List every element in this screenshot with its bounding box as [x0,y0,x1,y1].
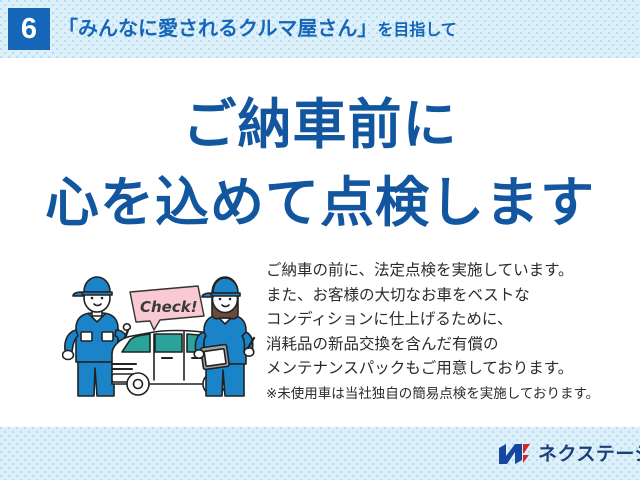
body-paragraph: ご納車の前に、法定点検を実施しています。 また、お客様の大切なお車をベストな コ… [266,258,616,406]
headline-line-2: 心を込めて点検します [0,170,640,236]
mechanics-illustration: Check! [62,272,262,400]
body-line-2: また、お客様の大切なお車をベストな [266,283,616,308]
body-line-3: コンディションに仕上げるために、 [266,307,616,332]
body-line-5: メンテナンスパックもご用意しております。 [266,356,616,381]
headline-line-1: ご納車前に [0,92,640,158]
header-title-suffix: を目指して [377,22,457,39]
body-footnote: ※未使用車は当社独自の簡易点検を実施しております。 [266,381,616,406]
body-line-1: ご納車の前に、法定点検を実施しています。 [266,258,616,283]
section-number-badge: 6 [8,8,50,50]
brand-logo-text: ネクステージ [538,441,640,467]
promo-banner: 6 「みんなに愛されるクルマ屋さん」を目指して ご納車前に 心を込めて点検します… [0,0,640,480]
n-logo-icon [498,442,532,466]
brand-logo[interactable]: ネクステージ [498,441,640,467]
body-line-4: 消耗品の新品交換を含んだ有償の [266,332,616,357]
header-title: 「みんなに愛されるクルマ屋さん」を目指して [58,14,457,44]
check-bubble-label: Check! [140,298,198,316]
header-title-quoted: 「みんなに愛されるクルマ屋さん」 [58,18,377,40]
